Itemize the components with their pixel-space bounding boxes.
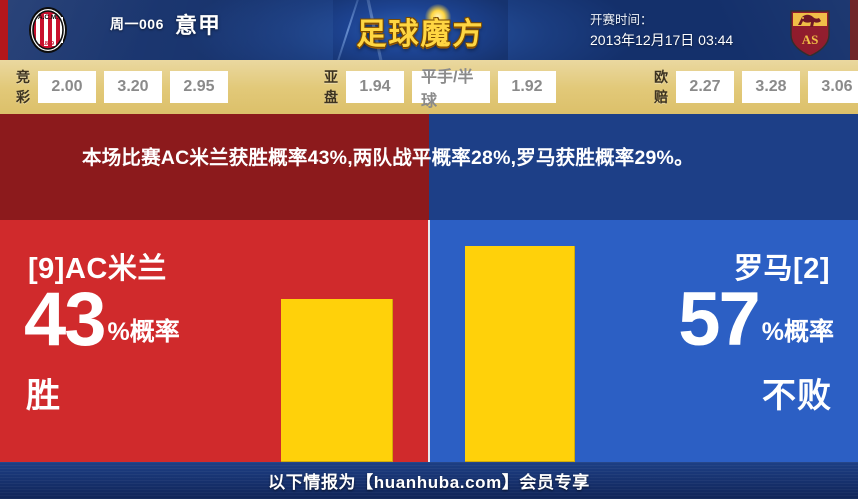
away-panel: 罗马[2] 57 %概率 不败 xyxy=(429,220,858,462)
brand-logo: 足球魔方 xyxy=(333,0,508,60)
odds-handicap[interactable]: 平手/半球 xyxy=(412,71,490,103)
brand-name: 足球魔方 xyxy=(333,9,508,53)
header-bar: A.C.M. 1899 AS 周一006 意甲 足球魔方 开赛时间： 2013年… xyxy=(0,0,858,60)
away-probability-unit: %概率 xyxy=(759,320,834,358)
odds-group-label: 亚盘 xyxy=(324,67,338,107)
odds-group-label: 欧赔 xyxy=(654,67,668,107)
away-probability-group: 57 %概率 xyxy=(678,282,834,358)
ac-milan-crest-icon: A.C.M. 1899 xyxy=(22,4,74,56)
summary-band: 本场比赛AC米兰获胜概率43%,两队战平概率28%,罗马获胜概率29%。 xyxy=(0,114,858,220)
header-left-stripe xyxy=(0,0,8,60)
svg-text:AS: AS xyxy=(802,32,819,47)
odds-value[interactable]: 1.94 xyxy=(346,71,404,103)
home-probability-bar xyxy=(281,299,393,462)
league-name: 意甲 xyxy=(175,8,221,40)
home-probability-value: 43 xyxy=(24,282,105,358)
header-right-stripe xyxy=(850,0,858,60)
odds-value[interactable]: 2.95 xyxy=(170,71,228,103)
panel-divider xyxy=(428,220,430,462)
home-probability-group: 43 %概率 xyxy=(24,282,180,358)
away-outcome-label: 不败 xyxy=(762,368,832,417)
odds-value[interactable]: 3.28 xyxy=(742,71,800,103)
infographic-page: A.C.M. 1899 AS 周一006 意甲 足球魔方 开赛时间： 2013年… xyxy=(0,0,858,499)
match-number-label: 周一006 xyxy=(110,14,164,34)
home-outcome-label: 胜 xyxy=(26,368,61,417)
as-roma-crest-icon: AS xyxy=(784,4,836,56)
odds-group-yapan: 亚盘 1.94 平手/半球 1.92 xyxy=(324,60,564,114)
footer-bar: 以下情报为【huanhuba.com】会员专享 xyxy=(0,462,858,499)
odds-value[interactable]: 3.06 xyxy=(808,71,858,103)
kickoff-label: 开赛时间： xyxy=(590,9,780,28)
odds-group-jingcai: 竞彩 2.00 3.20 2.95 xyxy=(16,60,236,114)
odds-group-label: 竞彩 xyxy=(16,67,30,107)
odds-group-oupei: 欧赔 2.27 3.28 3.06 xyxy=(654,60,858,114)
probability-chart: [9]AC米兰 43 %概率 胜 罗马[2] 57 %概率 不败 xyxy=(0,220,858,462)
odds-bar: 竞彩 2.00 3.20 2.95 亚盘 1.94 平手/半球 1.92 欧赔 … xyxy=(0,60,858,114)
away-probability-bar xyxy=(465,246,575,462)
odds-value[interactable]: 3.20 xyxy=(104,71,162,103)
home-panel: [9]AC米兰 43 %概率 胜 xyxy=(0,220,429,462)
footer-notice: 以下情报为【huanhuba.com】会员专享 xyxy=(268,468,590,493)
odds-value[interactable]: 2.00 xyxy=(38,71,96,103)
odds-value[interactable]: 2.27 xyxy=(676,71,734,103)
kickoff-time: 2013年12月17日 03:44 xyxy=(590,30,780,50)
summary-text: 本场比赛AC米兰获胜概率43%,两队战平概率28%,罗马获胜概率29%。 xyxy=(0,114,858,220)
away-probability-value: 57 xyxy=(678,282,759,358)
odds-value[interactable]: 1.92 xyxy=(498,71,556,103)
svg-text:1899: 1899 xyxy=(42,41,54,47)
svg-text:A.C.M.: A.C.M. xyxy=(38,14,58,21)
home-probability-unit: %概率 xyxy=(105,320,180,358)
